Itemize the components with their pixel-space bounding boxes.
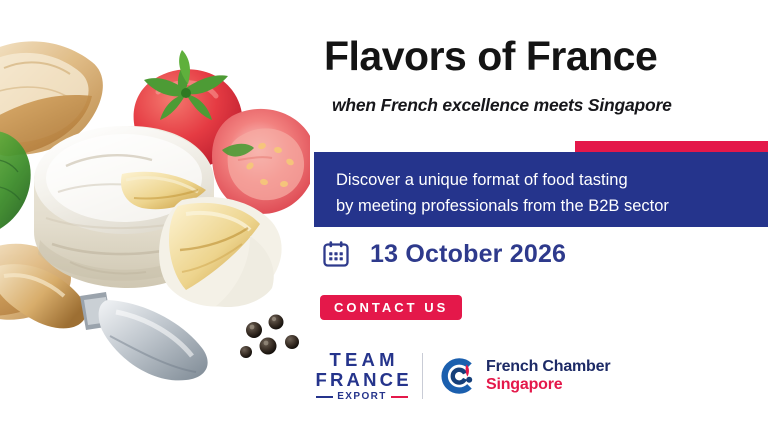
- french-chamber-singapore-logo[interactable]: French Chamber Singapore: [439, 357, 610, 395]
- team-france-export-logo[interactable]: TEAM FRANCE EXPORT: [318, 350, 406, 402]
- logo-divider: [422, 353, 423, 399]
- french-chamber-wordmark: French Chamber Singapore: [486, 358, 610, 394]
- event-date-row: 13 October 2026: [322, 240, 566, 268]
- tfe-line-team: TEAM: [325, 350, 398, 370]
- page-title: Flavors of France: [324, 36, 764, 77]
- logo-strip: TEAM FRANCE EXPORT: [318, 345, 610, 407]
- contact-us-button[interactable]: CONTACT US: [320, 295, 462, 320]
- chamber-c-ring-icon: [439, 357, 477, 395]
- fcs-line-french-chamber: French Chamber: [486, 358, 610, 376]
- message-line-2: by meeting professionals from the B2B se…: [336, 198, 669, 215]
- tfe-line-export: EXPORT: [337, 392, 387, 402]
- tfe-rule-red: [391, 396, 408, 398]
- tfe-rule-navy: [316, 396, 333, 398]
- event-date: 13 October 2026: [370, 242, 566, 267]
- watercolor-food-illustration: [0, 0, 310, 432]
- message-line-1: Discover a unique format of food tasting: [336, 172, 628, 189]
- fcs-line-singapore: Singapore: [486, 376, 610, 394]
- calendar-icon: [322, 240, 350, 268]
- flavors-of-france-banner: Flavors of France when French excellence…: [0, 0, 768, 432]
- page-subtitle: when French excellence meets Singapore: [332, 97, 762, 115]
- tfe-line-france: FRANCE: [312, 370, 411, 390]
- tfe-export-row: EXPORT: [316, 392, 408, 402]
- banner-content: Flavors of France when French excellence…: [310, 0, 768, 432]
- message-band: Discover a unique format of food tasting…: [314, 152, 768, 227]
